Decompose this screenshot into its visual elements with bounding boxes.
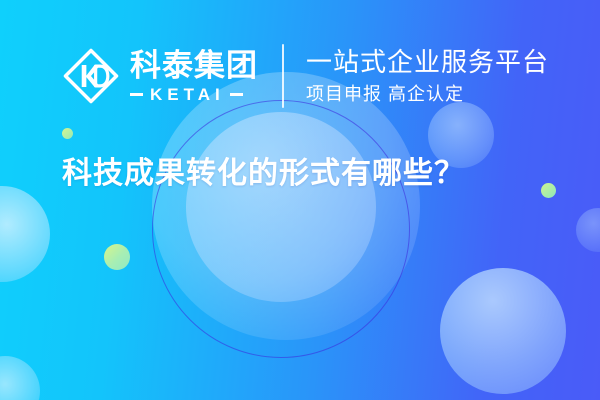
promotional-banner: 科泰集团 KETAI 一站式企业服务平台 项目申报 高企认定 科技成果转化的形式… — [0, 0, 600, 400]
accent-ring-circle — [152, 100, 410, 358]
blob-right-bottom-circle — [440, 268, 566, 394]
header-slogan-block: 一站式企业服务平台 项目申报 高企认定 — [306, 47, 549, 105]
banner-header: 科泰集团 KETAI 一站式企业服务平台 项目申报 高企认定 — [62, 40, 549, 112]
logo-company-name-en-row: KETAI — [130, 86, 258, 103]
green-dot-left — [104, 244, 130, 270]
green-dot-small — [62, 128, 73, 139]
green-dot-right — [541, 183, 556, 198]
logo-company-name-cn: 科泰集团 — [130, 49, 258, 82]
blob-right-edge-circle — [576, 208, 600, 252]
logo-company-name-en: KETAI — [149, 86, 225, 103]
halo-inner-circle — [186, 112, 376, 302]
blob-left-bottom-circle — [0, 356, 40, 400]
slogan-secondary: 项目申报 高企认定 — [306, 84, 549, 106]
logo-dash-right-icon — [230, 93, 243, 96]
kd-diamond-logo-icon — [62, 47, 120, 105]
page-title: 科技成果转化的形式有哪些？ — [62, 155, 465, 193]
halo-outer-circle — [152, 72, 420, 340]
logo-wordmark: 科泰集团 KETAI — [130, 49, 258, 102]
logo-dash-left-icon — [130, 93, 143, 96]
slogan-primary: 一站式企业服务平台 — [306, 47, 549, 78]
header-divider — [282, 44, 284, 108]
blob-left-top-circle — [0, 186, 50, 282]
